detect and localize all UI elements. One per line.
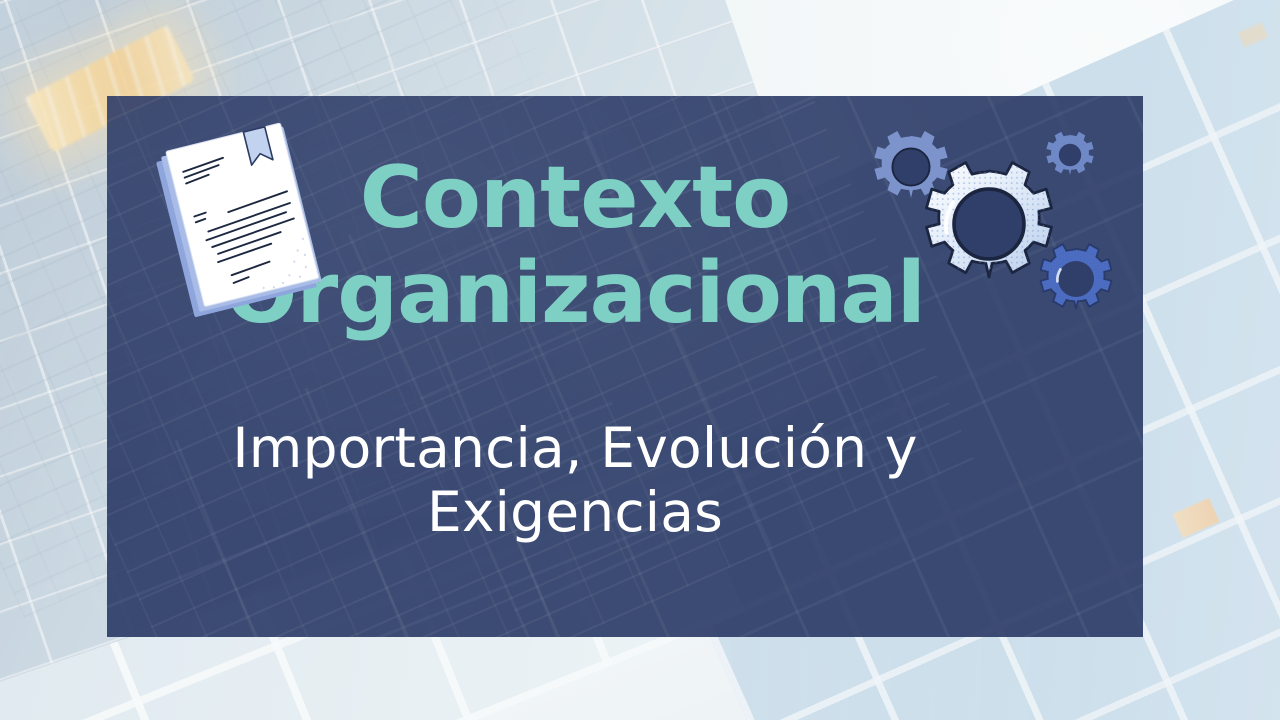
slide-canvas: Contexto Organizacional Importancia, Evo… [0, 0, 1280, 720]
gear-main-large [926, 163, 1051, 277]
document-certificate-icon [146, 112, 346, 322]
page-subtitle: Importancia, Evolución y Exigencias [180, 416, 970, 545]
gear-top-left [874, 131, 947, 198]
gears-cluster-icon [848, 112, 1138, 332]
gear-small-top-right [1046, 132, 1093, 175]
gear-bottom-right [1041, 244, 1112, 309]
